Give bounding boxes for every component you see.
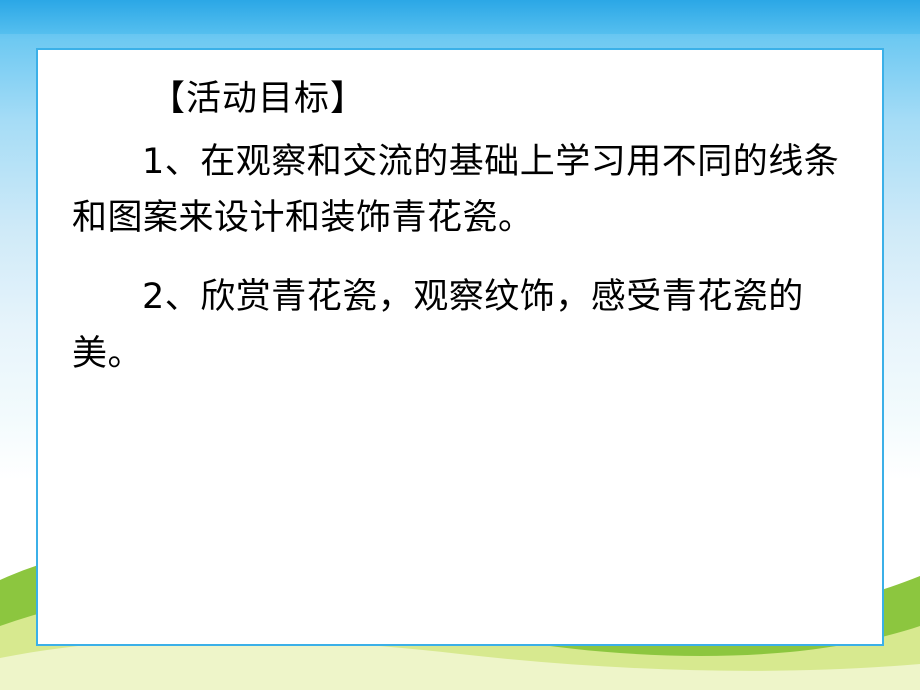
panel-inner: 【活动目标】 1、在观察和交流的基础上学习用不同的线条和图案来设计和装饰青花瓷。… — [38, 50, 882, 383]
slide: 【活动目标】 1、在观察和交流的基础上学习用不同的线条和图案来设计和装饰青花瓷。… — [0, 0, 920, 690]
objective-item-1: 1、在观察和交流的基础上学习用不同的线条和图案来设计和装饰青花瓷。 — [72, 134, 848, 247]
sky-top-strip — [0, 0, 920, 34]
page-title: 【活动目标】 — [150, 78, 848, 122]
content-panel: 【活动目标】 1、在观察和交流的基础上学习用不同的线条和图案来设计和装饰青花瓷。… — [36, 48, 884, 646]
objective-item-2: 2、欣赏青花瓷，观察纹饰，感受青花瓷的美。 — [72, 269, 848, 382]
